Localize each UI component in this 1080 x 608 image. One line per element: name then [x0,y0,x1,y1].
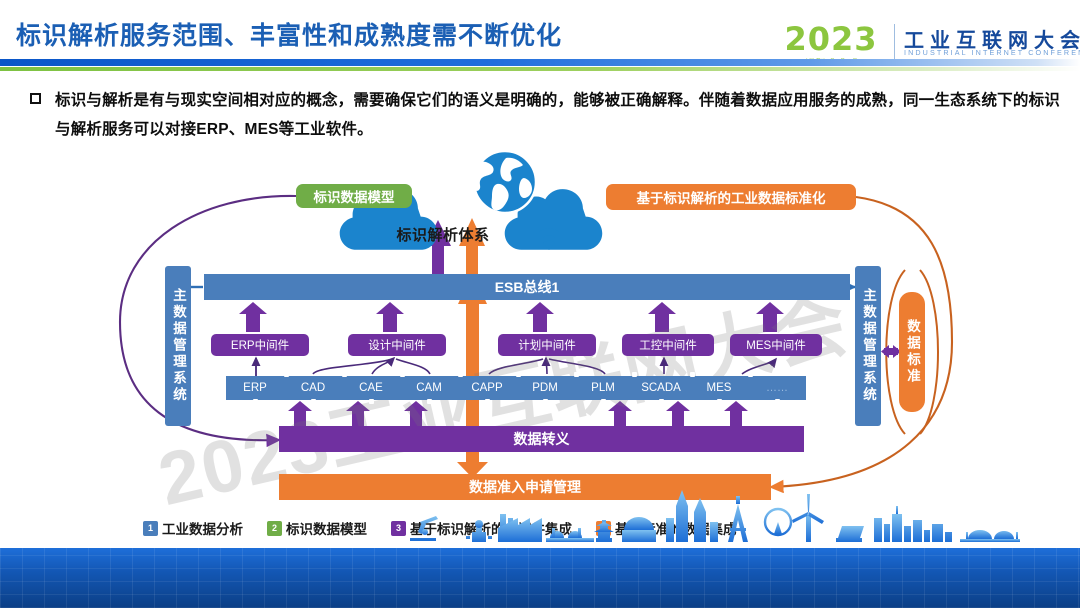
tag-identity-data-model: 标识数据模型 [296,184,412,208]
tag-data-standardization: 基于标识解析的工业数据标准化 [606,184,856,210]
slide-header: 标识解析服务范围、丰富性和成熟度需不断优化 2023 中国·苏州 9月19日-1… [0,0,1080,68]
logo-year-text: 2023 [772,22,890,56]
app-cae: CAE [342,376,400,400]
app-erp: ERP [226,376,284,400]
middleware-industrial-control: 工控中间件 [622,334,714,356]
app-cad: CAD [284,376,342,400]
app-cam: CAM [400,376,458,400]
caption-identity-resolution-system: 标识解析体系 [368,224,518,245]
app-more: …… [748,376,806,400]
middleware-plan: 计划中间件 [498,334,596,356]
header-green-rule [0,67,1080,71]
app-plm: PLM [574,376,632,400]
city-skyline-graphic [0,488,1080,550]
left-master-data-management: 主数据管理系统 [165,266,191,426]
footer-band [0,548,1080,608]
middleware-mes: MES中间件 [730,334,822,356]
middleware-erp: ERP中间件 [211,334,309,356]
application-strip: ERP CAD CAE CAM CAPP PDM PLM SCADA MES …… [226,376,806,400]
right-master-data-management: 主数据管理系统 [855,266,881,426]
app-scada: SCADA [632,376,690,400]
bullet-text: 标识与解析是有与现实空间相对应的概念，需要确保它们的语义是明确的，能够被正确解释… [55,86,1060,144]
app-mes: MES [690,376,748,400]
data-transformation-bar: 数据转义 [279,426,804,452]
middleware-design: 设计中间件 [348,334,446,356]
architecture-diagram: 2023工业互联网大会 标识数据模型 基于标识解析的工业数据标准化 标识解析体系… [0,152,1080,542]
esb-bus-bar: ESB总线1 [204,274,850,300]
bullet-block: 标识与解析是有与现实空间相对应的概念，需要确保它们的语义是明确的，能够被正确解释… [30,86,1060,144]
header-blue-rule [0,59,1080,66]
app-pdm: PDM [516,376,574,400]
bullet-square-icon [30,93,41,104]
page-title: 标识解析服务范围、丰富性和成熟度需不断优化 [16,16,562,52]
data-standard-pill: 数据标准 [899,292,925,412]
logo-english-name: INDUSTRIAL INTERNET CONFERENCE [904,48,1080,57]
app-capp: CAPP [458,376,516,400]
